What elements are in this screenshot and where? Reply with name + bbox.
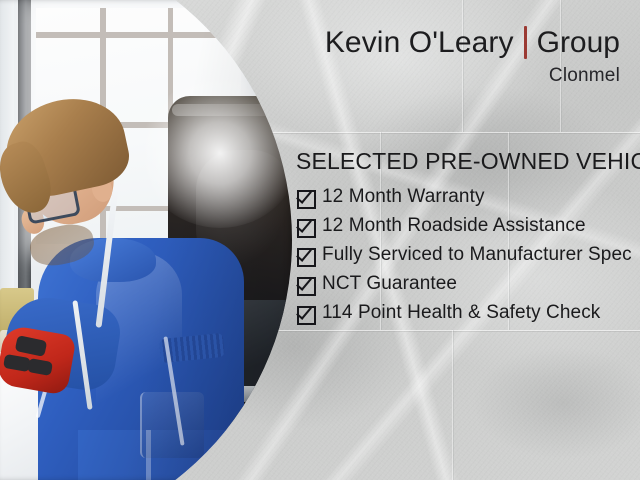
checked-box-icon bbox=[297, 248, 316, 267]
tile-seam-vertical bbox=[452, 330, 453, 480]
brand-logo-row: Kevin O'Leary Group bbox=[296, 26, 620, 59]
brand-name-primary: Kevin O'Leary bbox=[325, 28, 514, 58]
page-title: SELECTED PRE-OWNED VEHICLES bbox=[296, 148, 640, 175]
list-item-label: 12 Month Warranty bbox=[322, 186, 485, 208]
list-item-label: NCT Guarantee bbox=[322, 273, 457, 295]
checked-box-icon bbox=[297, 190, 316, 209]
checked-box-icon bbox=[297, 306, 316, 325]
brand-name-secondary: Group bbox=[537, 28, 620, 58]
logo-divider-bar bbox=[524, 26, 527, 59]
list-item: 12 Month Roadside Assistance bbox=[297, 215, 632, 244]
list-item: Fully Serviced to Manufacturer Spec bbox=[297, 244, 632, 273]
checked-box-icon bbox=[297, 277, 316, 296]
brand-location: Clonmel bbox=[296, 65, 620, 87]
list-item: NCT Guarantee bbox=[297, 273, 632, 302]
list-item: 12 Month Warranty bbox=[297, 186, 632, 215]
dealership-banner: Kevin O'Leary Group Clonmel SELECTED PRE… bbox=[0, 0, 640, 480]
checked-box-icon bbox=[297, 219, 316, 238]
brand-logo: Kevin O'Leary Group Clonmel bbox=[296, 26, 620, 87]
feature-checklist: 12 Month Warranty 12 Month Roadside Assi… bbox=[297, 186, 632, 331]
list-item-label: 12 Month Roadside Assistance bbox=[322, 215, 586, 237]
list-item-label: 114 Point Health & Safety Check bbox=[322, 302, 600, 324]
list-item-label: Fully Serviced to Manufacturer Spec bbox=[322, 244, 632, 266]
list-item: 114 Point Health & Safety Check bbox=[297, 302, 632, 331]
